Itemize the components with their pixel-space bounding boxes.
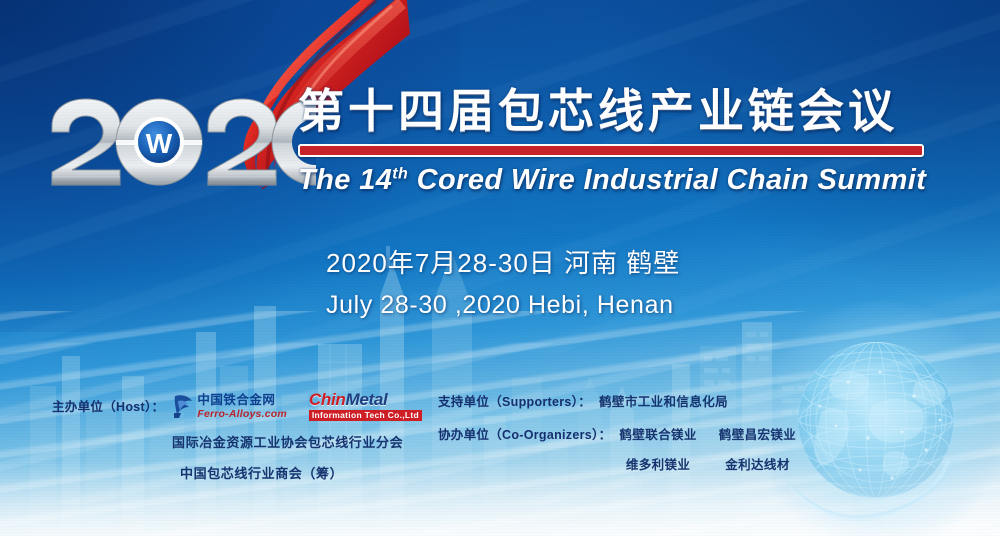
title-en-ordinal: th: [392, 165, 408, 182]
supporters-row: 支持单位（Supporters）： 鹤壁市工业和信息化局: [438, 391, 818, 410]
conference-title-english: The 14th Cored Wire Industrial Chain Sum…: [298, 164, 924, 197]
chinmetal-subtitle: Information Tech Co.,Ltd: [309, 410, 422, 421]
supporters-label: 支持单位（Supporters）：: [438, 391, 591, 410]
conference-title-chinese: 第十四届包芯线产业链会议: [298, 88, 924, 134]
coorganizer-name-2: 鹤壁昌宏镁业: [719, 424, 796, 443]
coorganizers-column-1: 鹤壁联合镁业 维多利镁业: [619, 424, 696, 473]
ferro-alloys-name-cn: 中国铁合金网: [197, 393, 275, 407]
date-location-chinese: 2020年7月28-30日 河南 鹤壁: [326, 243, 756, 280]
chinmetal-wordmark: ChinMetal: [309, 390, 388, 409]
host-label: 主办单位（Host）：: [52, 396, 164, 415]
host-org-1: 国际冶金资源工业协会包芯线行业分会: [52, 432, 442, 451]
ferro-alloys-text: 中国铁合金网 Ferro-Alloys.com: [197, 392, 287, 420]
svg-text:W: W: [146, 128, 173, 159]
ferro-alloys-mark-icon: [172, 393, 194, 419]
date-location-block: 2020年7月28-30日 河南 鹤壁 July 28-30 ,2020 Heb…: [326, 243, 756, 320]
host-org-2: 中国包芯线行业商会（筹）: [52, 463, 442, 482]
title-divider-rule: [298, 144, 924, 157]
title-en-rest: Cored Wire Industrial Chain Summit: [417, 164, 927, 196]
chinmetal-name-part1: Chin: [309, 390, 346, 409]
year-2020-logo: W: [46, 96, 316, 188]
coorganizer-name-4: 金利达线材: [719, 454, 796, 473]
coorganizers-row: 协办单位（Co-Organizers）： 鹤壁联合镁业 维多利镁业 鹤壁昌宏镁业…: [438, 424, 818, 473]
ferro-alloys-logo: 中国铁合金网 Ferro-Alloys.com: [172, 392, 287, 420]
title-en-number: 14: [359, 164, 392, 196]
coorganizers-label: 协办单位（Co-Organizers）：: [438, 424, 611, 443]
coorganizer-name-1: 鹤壁联合镁业: [619, 424, 696, 443]
host-row: 主办单位（Host）： 中国铁合金网 Ferro-Alloys.com Chin…: [52, 391, 442, 421]
title-en-prefix: The: [298, 164, 351, 196]
supporter-name-1: 鹤壁市工业和信息化局: [599, 391, 728, 410]
coorganizer-name-3: 维多利镁业: [619, 454, 696, 473]
ferro-alloys-name-en: Ferro-Alloys.com: [197, 409, 287, 420]
chinmetal-logo: ChinMetal Information Tech Co.,Ltd: [309, 391, 422, 421]
supporters-section: 支持单位（Supporters）： 鹤壁市工业和信息化局 协办单位（Co-Org…: [438, 391, 818, 473]
conference-banner: W 第十四届包芯线产业链会议 The 14th Cored Wire Indus…: [0, 0, 1000, 536]
title-block: 第十四届包芯线产业链会议 The 14th Cored Wire Industr…: [298, 88, 924, 197]
host-section: 主办单位（Host）： 中国铁合金网 Ferro-Alloys.com Chin…: [52, 391, 442, 482]
coorganizers-columns: 鹤壁联合镁业 维多利镁业 鹤壁昌宏镁业 金利达线材: [619, 424, 796, 473]
date-location-english: July 28-30 ,2020 Hebi, Henan: [326, 291, 756, 320]
chinmetal-name-part2: Metal: [345, 390, 387, 409]
coorganizers-column-2: 鹤壁昌宏镁业 金利达线材: [719, 424, 796, 473]
